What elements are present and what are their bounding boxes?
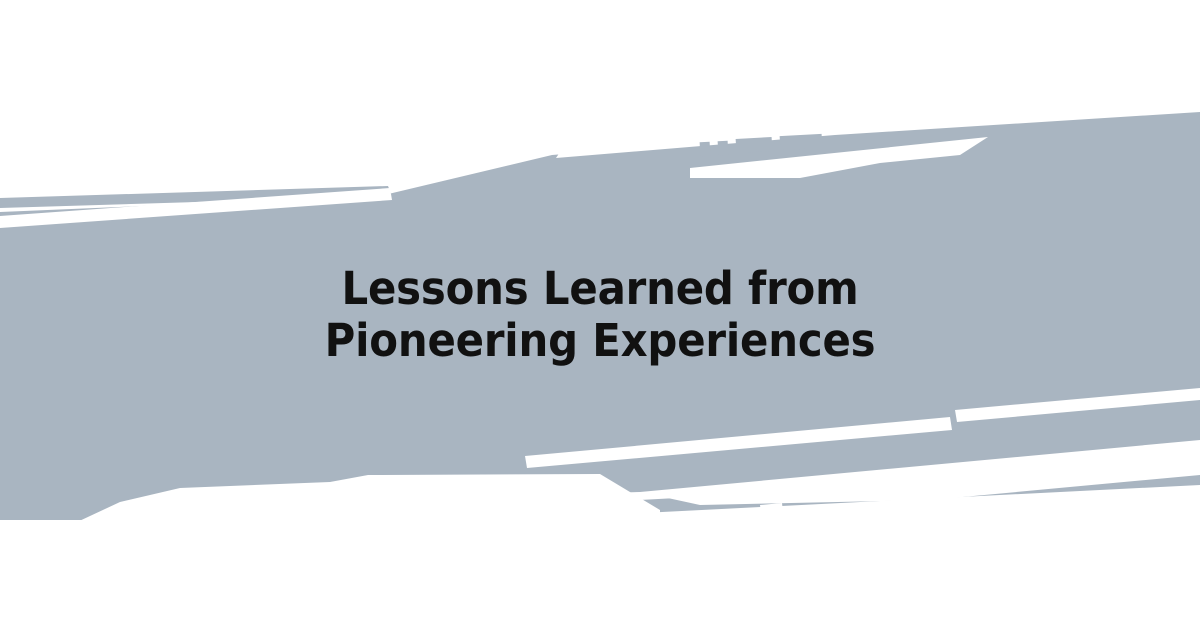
dash-mark-4 [780, 134, 823, 150]
dash-mark-1 [700, 142, 711, 157]
white-gap-stripe [760, 503, 784, 522]
banner-canvas: Lessons Learned from Pioneering Experien… [0, 0, 1200, 630]
dash-mark-2 [718, 141, 729, 156]
background-decoration [0, 0, 1200, 630]
dash-mark-3 [736, 137, 773, 153]
